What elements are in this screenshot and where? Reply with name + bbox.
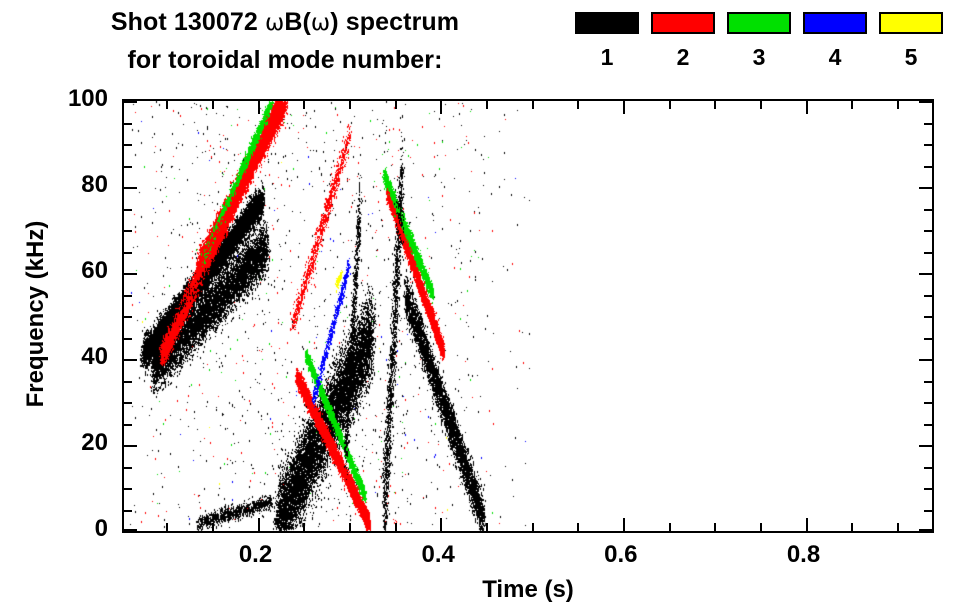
y-tick [124, 144, 132, 146]
x-tick [806, 101, 808, 114]
legend-item-3[interactable]: 3 [727, 12, 791, 70]
title-prefix: Shot 130072 [111, 8, 265, 36]
x-tick [166, 101, 168, 109]
y-tick [924, 295, 932, 297]
title-mid: B( [284, 8, 311, 36]
x-tick [440, 518, 442, 531]
x-tick [212, 523, 214, 531]
spectrogram-canvas [124, 101, 932, 531]
x-tick [258, 101, 260, 114]
y-tick [919, 359, 932, 361]
legend-label-4: 4 [803, 44, 867, 70]
legend-label-5: 5 [879, 44, 943, 70]
y-tick-label-100: 100 [68, 87, 108, 111]
omega-symbol-1: ω [265, 10, 284, 36]
y-tick [124, 316, 132, 318]
x-axis-title: Time (s) [122, 576, 934, 604]
x-tick [349, 523, 351, 531]
x-tick [623, 101, 625, 114]
y-tick-label-80: 80 [81, 173, 108, 197]
legend-label-2: 2 [651, 44, 715, 70]
y-tick-label-60: 60 [81, 259, 108, 283]
y-tick [124, 230, 132, 232]
x-tick [258, 518, 260, 531]
legend-swatch-mode-n3 [727, 12, 791, 34]
legend-item-2[interactable]: 2 [651, 12, 715, 70]
y-tick [124, 187, 137, 189]
y-tick [924, 488, 932, 490]
omega-symbol-2: ω [311, 10, 330, 36]
x-tick [532, 101, 534, 109]
figure-root: Shot 130072 ωB(ω) spectrum for toroidal … [0, 0, 963, 615]
x-tick [486, 101, 488, 109]
x-tick [349, 101, 351, 109]
x-tick [577, 523, 579, 531]
y-tick [124, 209, 132, 211]
y-tick [924, 123, 932, 125]
y-tick [924, 381, 932, 383]
y-tick [124, 467, 132, 469]
y-tick-label-20: 20 [81, 431, 108, 455]
x-tick [212, 101, 214, 109]
x-tick [714, 101, 716, 109]
y-tick [924, 510, 932, 512]
x-tick [760, 523, 762, 531]
y-tick [124, 166, 132, 168]
plot-area [122, 99, 934, 533]
legend-swatch-mode-n4 [803, 12, 867, 34]
y-axis-title: Frequency (kHz) [22, 184, 50, 444]
y-tick [124, 402, 132, 404]
x-tick [623, 518, 625, 531]
y-tick [124, 488, 132, 490]
x-tick [851, 523, 853, 531]
y-tick [919, 529, 932, 531]
x-tick [440, 101, 442, 114]
legend-item-1[interactable]: 1 [575, 12, 639, 70]
y-tick-labels: 020406080100 [0, 0, 108, 615]
y-tick [924, 467, 932, 469]
y-tick [124, 295, 132, 297]
x-tick [395, 523, 397, 531]
legend-swatch-mode-n5 [879, 12, 943, 34]
x-tick [532, 523, 534, 531]
y-tick [124, 381, 132, 383]
y-tick [924, 424, 932, 426]
x-tick [714, 523, 716, 531]
y-tick-label-0: 0 [95, 517, 108, 541]
x-tick [806, 518, 808, 531]
x-tick-labels: 0.20.40.60.8 [0, 543, 963, 577]
y-tick [924, 209, 932, 211]
y-tick [924, 144, 932, 146]
legend-item-5[interactable]: 5 [879, 12, 943, 70]
y-tick [124, 424, 132, 426]
y-tick-label-40: 40 [81, 345, 108, 369]
y-tick [124, 338, 132, 340]
x-tick [303, 101, 305, 109]
y-tick [919, 187, 932, 189]
y-tick [919, 101, 932, 103]
y-tick [124, 359, 137, 361]
x-tick [669, 523, 671, 531]
y-tick [919, 273, 932, 275]
y-tick [124, 123, 132, 125]
x-tick-label-0.2: 0.2 [216, 543, 296, 567]
x-tick-label-0.4: 0.4 [398, 543, 478, 567]
y-tick [919, 445, 932, 447]
legend-label-1: 1 [575, 44, 639, 70]
y-tick [124, 273, 137, 275]
legend-swatch-mode-n1 [575, 12, 639, 34]
y-tick [924, 316, 932, 318]
y-tick [924, 338, 932, 340]
y-tick [924, 166, 932, 168]
x-tick [897, 523, 899, 531]
x-tick [166, 523, 168, 531]
y-tick [124, 445, 137, 447]
x-tick-label-0.8: 0.8 [764, 543, 844, 567]
y-tick [924, 402, 932, 404]
y-tick [124, 101, 137, 103]
x-tick [669, 101, 671, 109]
x-tick [897, 101, 899, 109]
legend-swatch-mode-n2 [651, 12, 715, 34]
y-tick [124, 510, 132, 512]
title-suffix: ) spectrum [330, 8, 459, 36]
x-tick [577, 101, 579, 109]
legend: 12345 [575, 12, 955, 84]
legend-item-4[interactable]: 4 [803, 12, 867, 70]
legend-label-3: 3 [727, 44, 791, 70]
y-tick [924, 252, 932, 254]
y-tick [124, 252, 132, 254]
y-tick [124, 529, 137, 531]
x-tick [760, 101, 762, 109]
x-tick-label-0.6: 0.6 [581, 543, 661, 567]
y-tick [924, 230, 932, 232]
x-tick [303, 523, 305, 531]
x-tick [851, 101, 853, 109]
x-tick [395, 101, 397, 109]
x-tick [486, 523, 488, 531]
